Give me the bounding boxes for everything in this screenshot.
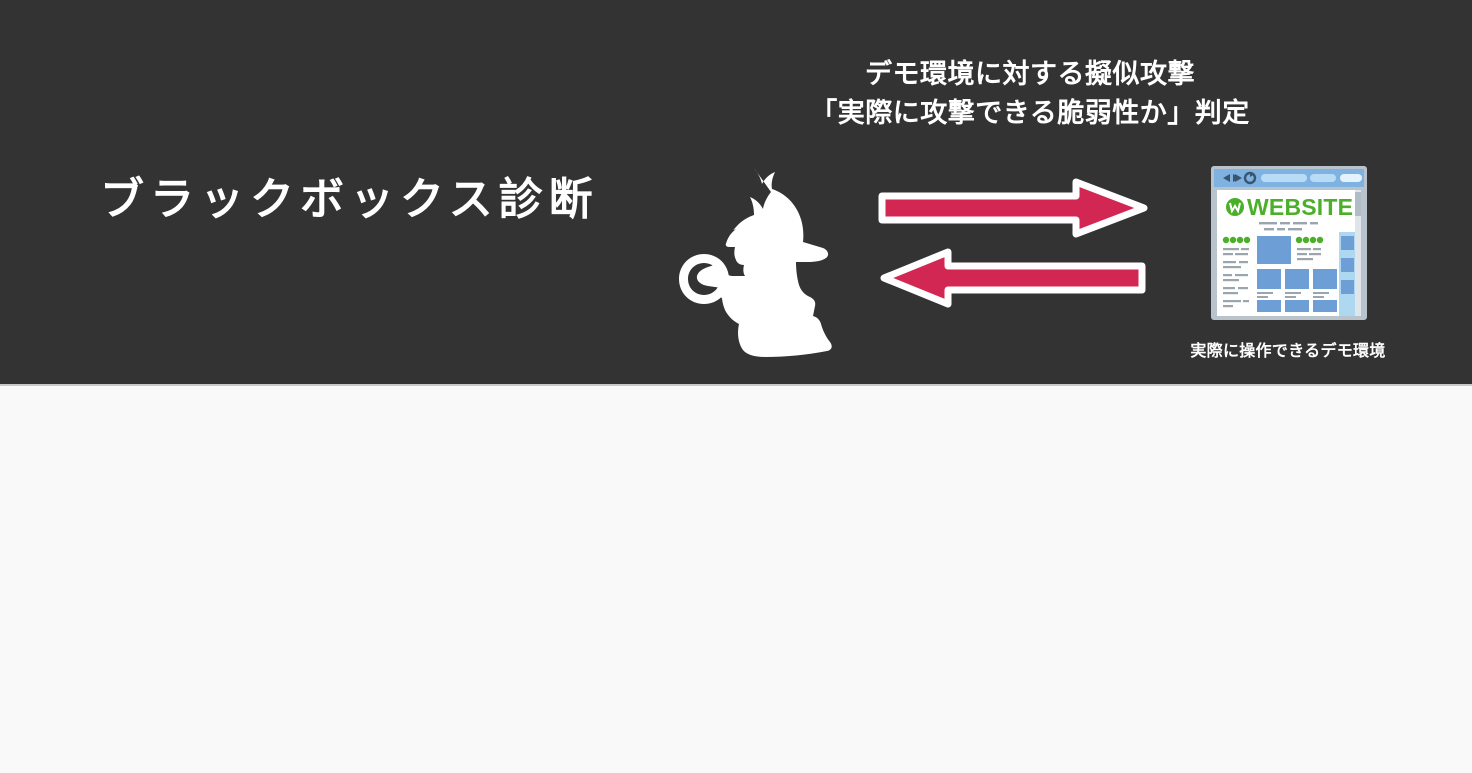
black-box-caption-line-1: デモ環境に対する擬似攻撃 xyxy=(810,55,1249,94)
attack-arrow-right xyxy=(878,178,1148,238)
browser-window-icon: WEBSITE xyxy=(1209,164,1369,322)
website-logo-text: WEBSITE xyxy=(1247,194,1353,220)
demo-environment-caption: 実際に操作できるデモ環境 xyxy=(1190,337,1385,361)
black-box-title: ブラックボックス診断 xyxy=(100,163,599,227)
black-box-caption: デモ環境に対する擬似攻撃 「実際に攻撃できる脆弱性か」判定 xyxy=(810,55,1249,133)
slide-root: デモ環境に対する擬似攻撃 「実際に攻撃できる脆弱性か」判定 ブラックボックス診断 xyxy=(0,0,1472,773)
detective-silhouette-icon xyxy=(662,155,832,325)
response-arrow-left xyxy=(880,248,1146,308)
white-box-section: ソースコードや仕様書など内部情報を解析 網羅的だが理論上の判定に留まる ホワイト… xyxy=(0,388,1472,773)
black-box-caption-line-2: 「実際に攻撃できる脆弱性か」判定 xyxy=(810,94,1249,133)
black-box-section: デモ環境に対する擬似攻撃 「実際に攻撃できる脆弱性か」判定 ブラックボックス診断 xyxy=(0,0,1472,386)
